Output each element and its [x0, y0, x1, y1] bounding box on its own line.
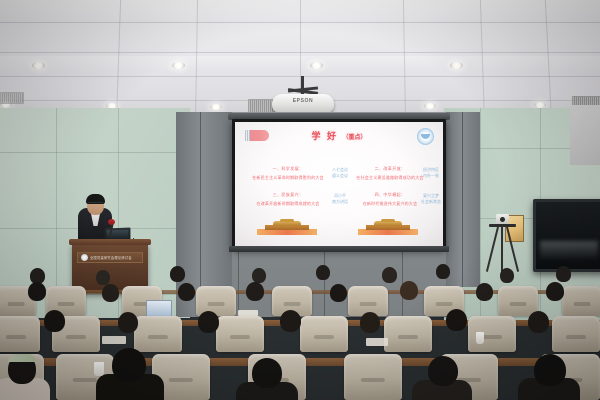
- slide-item-body: 在新时代推进伟大复兴的大会: [351, 201, 429, 207]
- paper-document: [366, 338, 388, 346]
- auditorium-seat[interactable]: [196, 286, 236, 316]
- attendee-head: [360, 312, 380, 333]
- ceiling-downlight: [32, 62, 45, 69]
- attendee-head: [246, 282, 264, 301]
- attendee-head: [476, 283, 493, 301]
- slide-canvas: 学 好 （重点） 一、科学发展： 在新民主主义革命时期取得胜利的大会 八七会议 …: [235, 122, 443, 246]
- podium-top-surface: [69, 239, 151, 245]
- ceiling-downlight: [210, 104, 222, 110]
- ceiling-downlight: [172, 62, 185, 69]
- attendee-head: [400, 281, 418, 300]
- attendee-head: [382, 267, 397, 283]
- auditorium-seat[interactable]: [0, 316, 40, 352]
- slide-item-note: 经济特区 内外一致: [419, 167, 443, 179]
- ceiling-downlight: [424, 103, 436, 109]
- attendee-head: [330, 284, 347, 302]
- microphone-icon: [108, 219, 115, 225]
- attendee-head: [436, 264, 450, 279]
- attendee-head: [528, 311, 549, 333]
- attendee-head: [280, 310, 301, 332]
- attendee-head: [28, 282, 46, 301]
- attendee-head: [428, 356, 458, 386]
- right-wall-return: [570, 105, 600, 165]
- tiananmen-gate-graphic: [257, 218, 317, 235]
- auditorium-seat[interactable]: [552, 316, 600, 352]
- attendee-head: [546, 282, 564, 301]
- tiananmen-gate-graphic: [358, 218, 418, 235]
- institution-emblem-icon: [81, 254, 88, 261]
- auditorium-seat[interactable]: [498, 286, 538, 316]
- attendee-head: [118, 312, 138, 333]
- slide-item: 二、改革开放： 在社会主义建设道路取得成功的大会: [351, 166, 429, 181]
- ceiling-downlight: [450, 62, 463, 69]
- slide-item-note: 邓小平 南方讲话: [327, 193, 353, 205]
- attendee-head: [178, 283, 195, 301]
- attendee-head: [96, 270, 110, 285]
- paper-document: [102, 336, 126, 344]
- slide-item-note: 八七会议 遵义会议: [327, 167, 353, 179]
- slide-item-heading: 一、科学发展：: [249, 166, 327, 172]
- auditorium-seat[interactable]: [300, 316, 348, 352]
- attendee-head: [316, 265, 330, 280]
- slide-item: 四、中华崛起： 在新时代推进伟大复兴的大会: [351, 192, 429, 207]
- auditorium-seat[interactable]: [344, 354, 402, 400]
- projection-screen-weight-bar: [229, 246, 449, 252]
- wall-pilaster-right: [446, 112, 480, 287]
- auditorium-seat[interactable]: [216, 316, 264, 352]
- auditorium-seat[interactable]: [562, 286, 600, 316]
- auditorium-seat[interactable]: [384, 316, 432, 352]
- slide-item-heading: 二、改革开放：: [351, 166, 429, 172]
- attendee-head: [500, 268, 514, 283]
- projector-brand-label: EPSON: [272, 98, 334, 104]
- slide-item: 三、民族复兴： 在改革开放新时期取得成就的大会: [249, 192, 327, 207]
- hair-band: [8, 354, 36, 362]
- laptop-screen: [146, 300, 172, 317]
- lecture-hall-photo: EPSON 学 好 （重点）: [0, 0, 600, 400]
- slide-title-sub: （重点）: [343, 135, 367, 141]
- attendee-head: [198, 311, 219, 333]
- slide-item-note: 复兴之梦 社会新常态: [419, 193, 443, 205]
- attendee-head: [44, 310, 65, 332]
- slide-item-body: 在改革开放新时期取得成就的大会: [249, 201, 327, 207]
- attendee-head: [252, 268, 266, 283]
- attendee-head: [112, 348, 146, 382]
- attendee-head: [556, 266, 571, 282]
- air-vent: [0, 92, 24, 104]
- slide-item-body: 在社会主义建设道路取得成功的大会: [351, 175, 429, 181]
- slide-title: 学 好 （重点）: [235, 129, 443, 142]
- paper-cup: [94, 362, 104, 376]
- slide-item: 一、科学发展： 在新民主主义革命时期取得胜利的大会: [249, 166, 327, 181]
- auditorium-seat[interactable]: [134, 316, 182, 352]
- paper-cup: [476, 332, 484, 344]
- attendee-head: [170, 266, 185, 282]
- projection-screen: 学 好 （重点） 一、科学发展： 在新民主主义革命时期取得胜利的大会 八七会议 …: [232, 119, 446, 249]
- attendee-head: [102, 284, 119, 302]
- attendee-head: [252, 358, 282, 388]
- video-camera-icon: [496, 214, 509, 224]
- projector: EPSON: [272, 94, 334, 113]
- slide-item-heading: 三、民族复兴：: [249, 192, 327, 198]
- ceiling-downlight: [310, 62, 323, 69]
- audience-area: [0, 262, 600, 400]
- attendee-head: [534, 354, 566, 386]
- podium-plate-text: 全国党建研究会理论研讨会: [90, 255, 132, 260]
- attendee-head: [446, 309, 467, 331]
- slide-title-main: 学 好: [311, 131, 338, 141]
- slide-item-body: 在新民主主义革命时期取得胜利的大会: [249, 175, 327, 181]
- slide-item-heading: 四、中华崛起：: [351, 192, 429, 198]
- glasses-icon: [88, 202, 103, 206]
